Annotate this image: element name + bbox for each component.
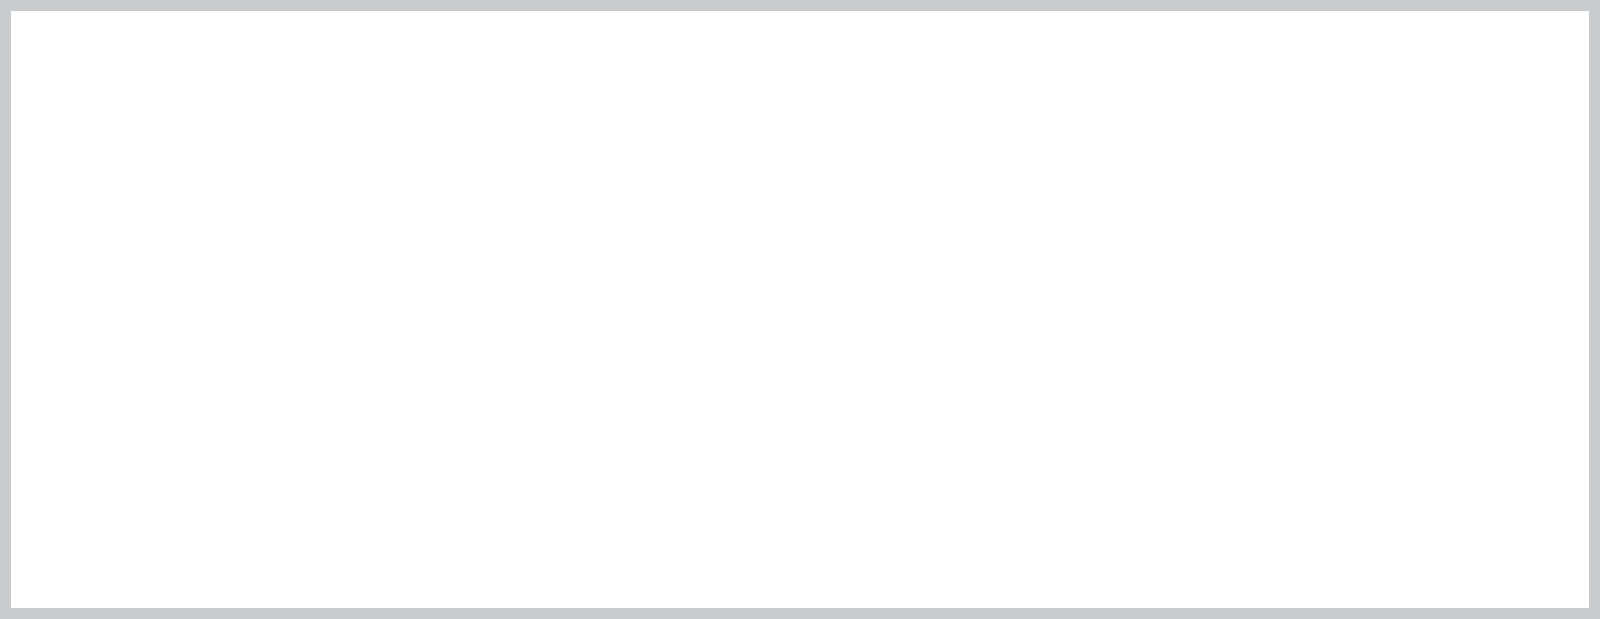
compressor-pump: [216, 66, 316, 160]
vessel-2-valve: [646, 190, 702, 216]
step-label-2-line2: Saturation: [474, 536, 684, 557]
vessel-3-valve-state-label: Open: [932, 168, 975, 188]
step-label-1-line1: Stabilization of: [200, 515, 422, 536]
step-label-3: Depressurization & Foaming: [736, 515, 946, 558]
vessel-3-group: [772, 203, 999, 483]
page-title: Temperature-Induced Batch Foaming: [0, 14, 1600, 59]
pressure-gauge: [130, 93, 166, 129]
co2-label-subscript: 2: [140, 510, 148, 526]
step-label-1: Stabilization of Operating Conditions: [200, 515, 422, 558]
step-label-1-line2: Operating Conditions: [200, 536, 422, 557]
co2-gas-supply: [74, 113, 218, 530]
step-label-4: Foaming (Expansion at High Temp.: [996, 515, 1210, 558]
co2-label: CO2: [108, 500, 147, 526]
vessel-2-valve-state-label: Closed: [661, 168, 718, 188]
heated-foamed-sample: [1133, 313, 1250, 406]
step-label-4-line2: at High Temp.: [996, 536, 1210, 557]
step-label-5-line2: Stabilization: [1258, 536, 1470, 557]
step-label-5-line1: Cooling &: [1258, 515, 1470, 536]
cooling-foamed-sample: [1394, 337, 1489, 420]
watermark: IQSdirectory.com: [1380, 576, 1582, 605]
vessel-1-valve-state-label: Closed: [396, 168, 453, 188]
vessel-1-group: [243, 206, 470, 483]
vessel-1-liquid: [291, 265, 429, 459]
step-label-2: Sample Saturation: [474, 515, 684, 558]
vessel-2-group: [508, 203, 735, 483]
hot-plate-knob: [1052, 449, 1074, 471]
steam-wisps: [1153, 133, 1224, 215]
vessel-2-base-plate: [508, 462, 735, 483]
cooling-beaker-group: [1390, 250, 1489, 456]
heated-beaker: [1126, 215, 1250, 444]
vessel-3-base-plate: [772, 462, 999, 483]
vessel-3-valve: [910, 190, 966, 216]
diagram-root: Temperature-Induced Batch Foaming Closed…: [0, 0, 1600, 619]
cylinder-neck: [100, 170, 117, 190]
hot-plate-indicator-bar: [1084, 455, 1176, 465]
cylinder-collar: [86, 151, 130, 170]
step-label-3-line1: Depressurization: [736, 515, 946, 536]
step-label-5: Cooling & Stabilization: [1258, 515, 1470, 558]
step-label-2-line1: Sample: [474, 515, 684, 536]
step-label-4-line1: Foaming (Expansion: [996, 515, 1210, 536]
co2-cylinder-body: [74, 190, 142, 469]
co2-label-text: CO: [108, 500, 140, 523]
step-label-3-line2: & Foaming: [736, 536, 946, 557]
inline-valve-supply: [305, 176, 331, 216]
vessel-1-valve: [381, 190, 437, 216]
gas-release-spray: [968, 162, 1056, 252]
